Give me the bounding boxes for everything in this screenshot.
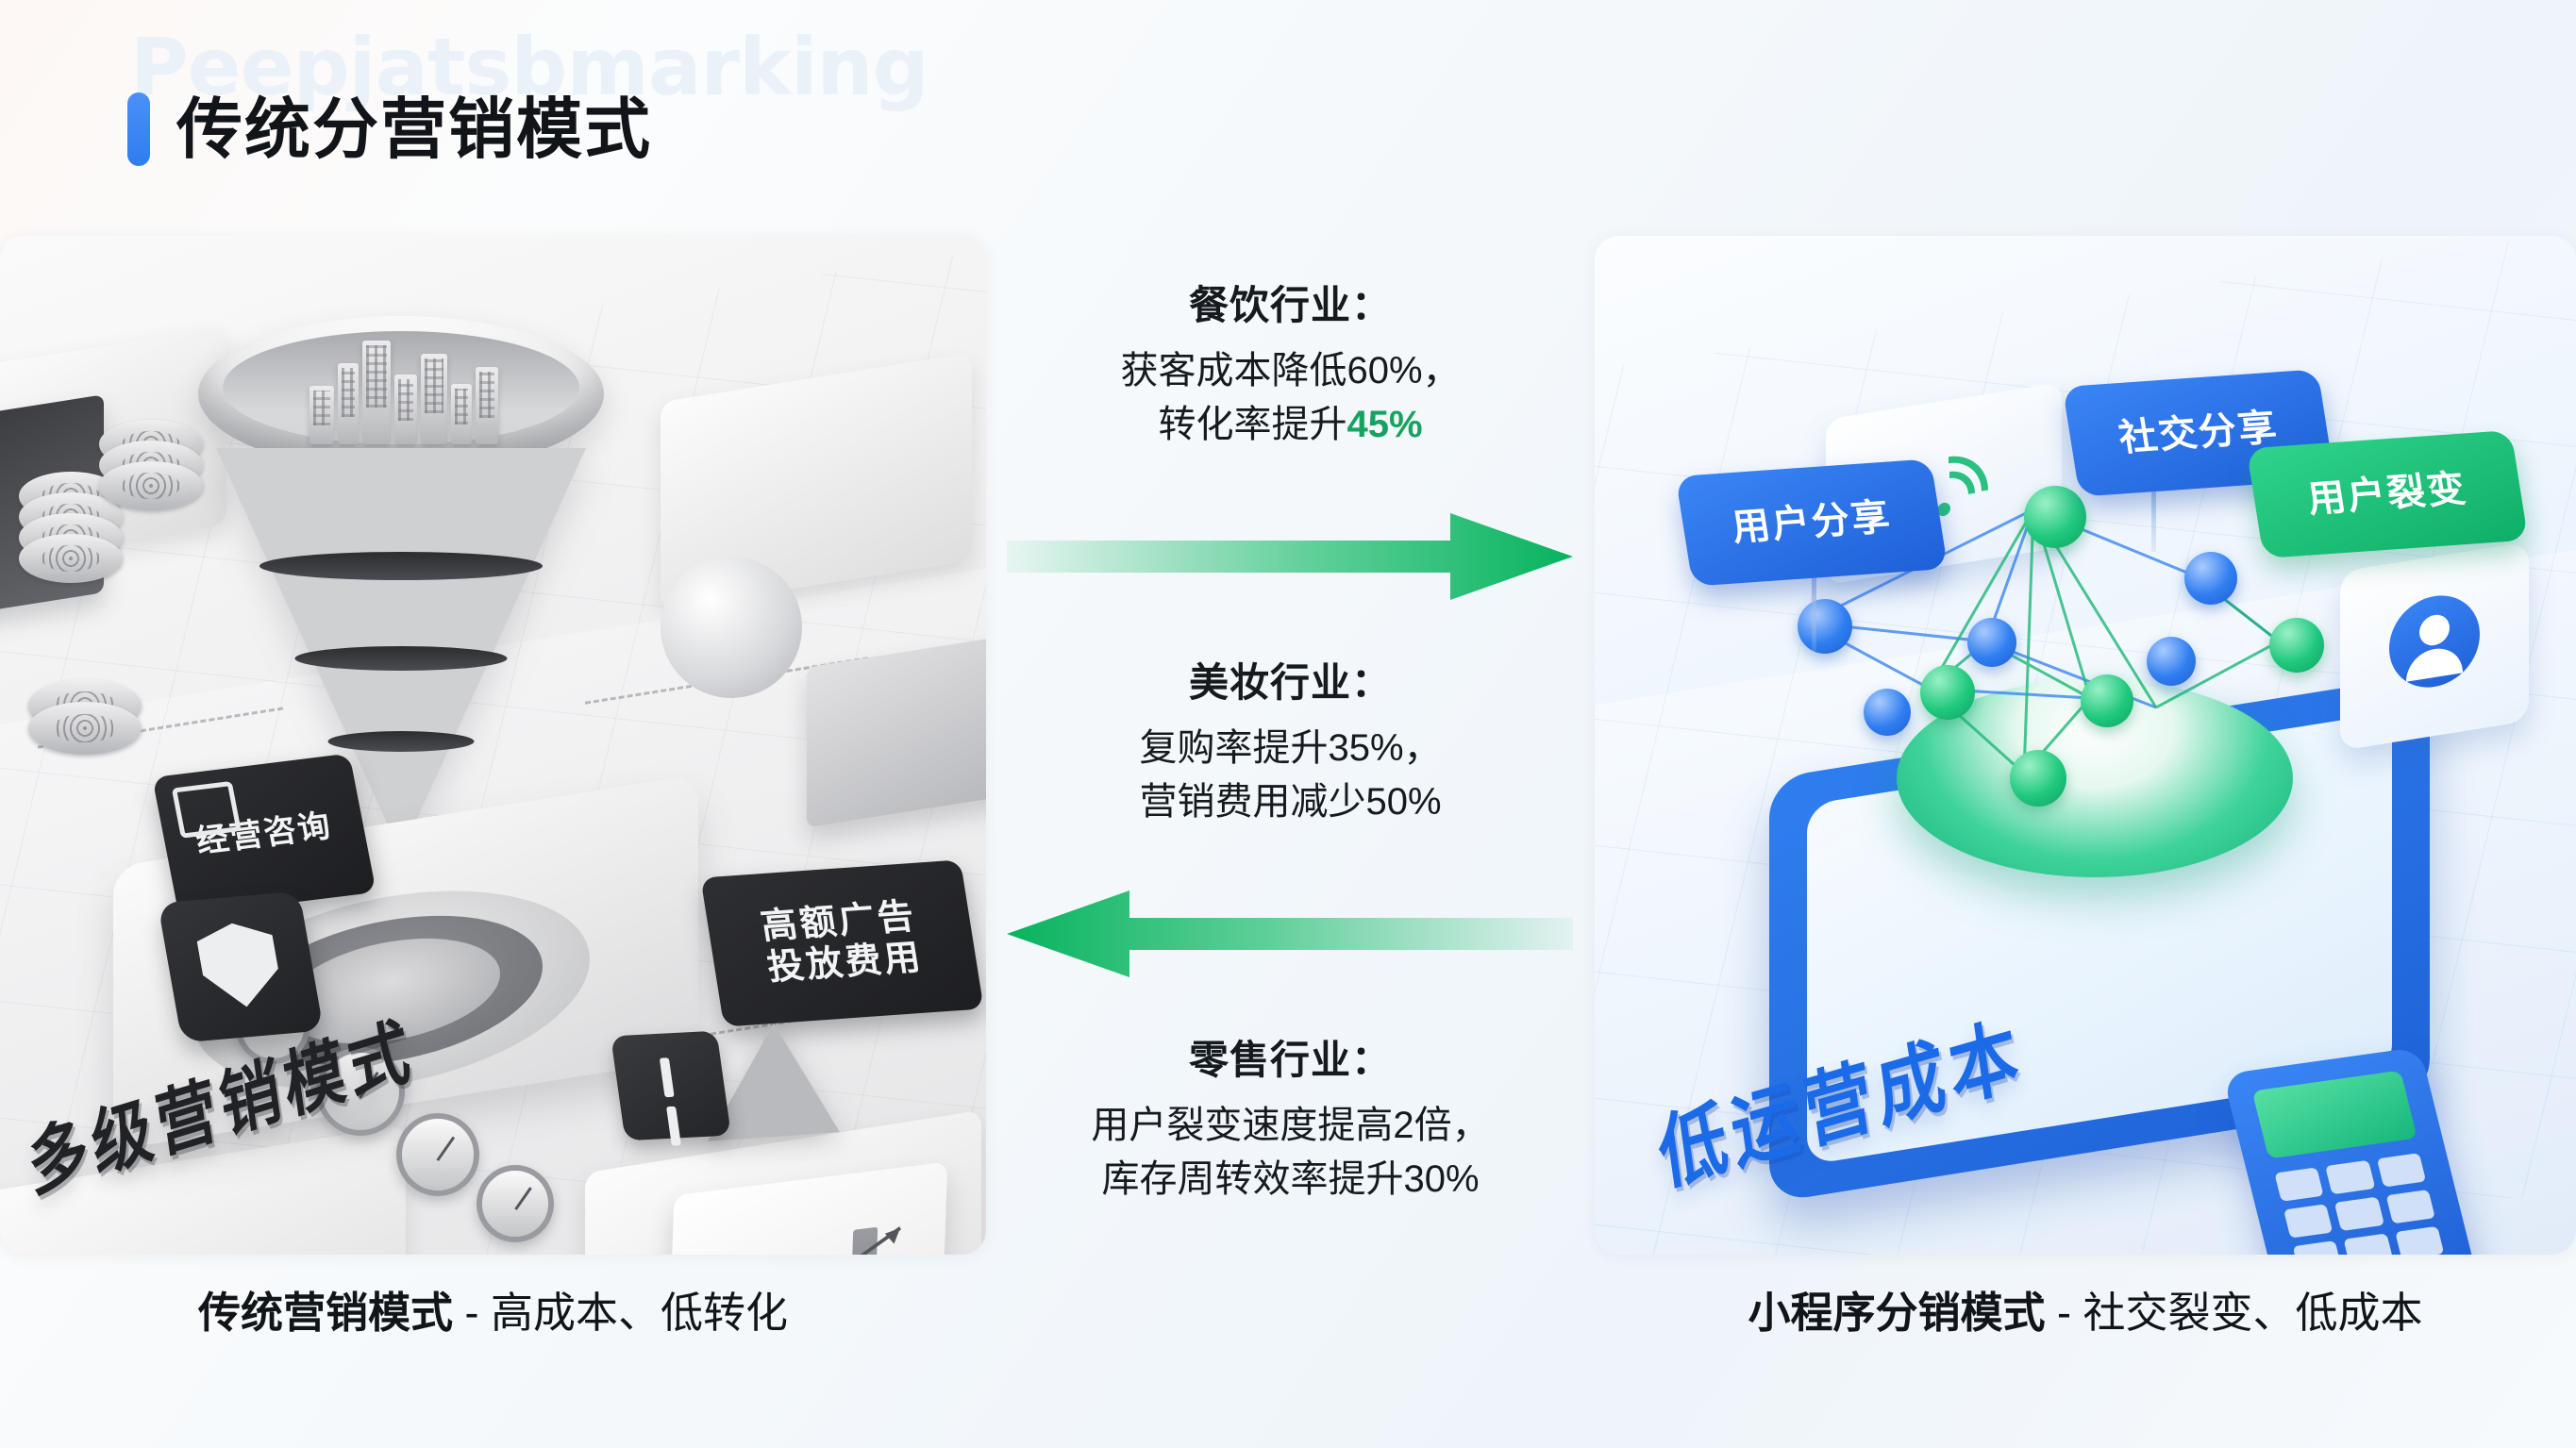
funnel-ring [259, 552, 543, 580]
left-caption-rest: - 高成本、低转化 [453, 1289, 788, 1337]
user-icon [2389, 589, 2480, 693]
consulting-sign: 经营咨询 [152, 754, 376, 917]
sphere-decoration [661, 557, 802, 698]
trend-line-icon [694, 1217, 916, 1255]
stat-block-catering: 餐饮行业： 获客成本降低60%， 转化率提升45% [986, 274, 1595, 452]
traditional-scene: 经营咨询 高额广告投放费用 多级营销模式 [0, 236, 986, 1255]
user-card [2340, 541, 2529, 751]
right-caption-rest: - 社交裂变、低成本 [2046, 1289, 2423, 1337]
network-node [2269, 618, 2324, 673]
stat-industry-title: 餐饮行业： [986, 274, 1595, 331]
page-title-row: 传统分营销模式 [127, 92, 652, 166]
network-node [2081, 674, 2133, 727]
right-caption-strong: 小程序分销模式 [1748, 1289, 2045, 1337]
gauge-dial [477, 1165, 554, 1242]
right-caption: 小程序分销模式 - 社交裂变、低成本 [1595, 1278, 2576, 1340]
right-arrow-icon [1007, 509, 1573, 604]
stat-line-2-prefix: 转化率提升 [1158, 404, 1347, 445]
user-fission-label: 用户裂变 [2305, 470, 2469, 518]
stat-block-retail: 零售行业： 用户裂变速度提高2倍， 库存周转效率提升30% [986, 1028, 1595, 1207]
page-header: Peepjatsbmarking 传统分营销模式 [0, 0, 2576, 236]
pos-keypad [2274, 1153, 2453, 1255]
ad-cost-sign-label: 高额广告投放费用 [742, 896, 944, 990]
user-share-label: 用户分享 [1730, 498, 1894, 546]
tag-stem [1812, 575, 1816, 651]
stat-line-2: 库存周转效率提升30% [986, 1153, 1595, 1207]
funnel-ring [295, 646, 508, 671]
warning-badge-icon [611, 1031, 731, 1141]
page-title: 传统分营销模式 [176, 96, 652, 162]
distribution-scene: 用户分享 社交分享 用户裂变 低运营成本 [1595, 236, 2576, 1255]
left-arrow-icon [1007, 887, 1573, 981]
left-illustration-panel: 经营咨询 高额广告投放费用 多级营销模式 [0, 236, 986, 1255]
stat-highlight-value: 45% [1347, 404, 1422, 445]
gauge-dial [396, 1113, 479, 1196]
stat-line-1: 用户裂变速度提高2倍， [986, 1099, 1595, 1153]
stat-line-2: 转化率提升45% [986, 398, 1595, 452]
network-node [2147, 637, 2196, 686]
user-share-tag: 用户分享 [1676, 458, 1949, 586]
funnel-ring [328, 731, 475, 752]
network-node [2184, 552, 2237, 605]
left-caption-strong: 传统营销模式 [198, 1289, 453, 1337]
network-node [2010, 750, 2066, 807]
stat-block-beauty: 美妆行业： 复购率提升35%， 营销费用减少50% [986, 651, 1595, 829]
stat-line-1: 复购率提升35%， [986, 722, 1595, 775]
factory-block [807, 635, 986, 828]
shield-badge [158, 891, 324, 1043]
network-node [2024, 486, 2086, 548]
right-illustration-panel: 用户分享 社交分享 用户裂变 低运营成本 [1595, 236, 2576, 1255]
tag-stem [2151, 486, 2156, 552]
network-node [1798, 599, 1852, 654]
left-caption: 传统营销模式 - 高成本、低转化 [0, 1278, 986, 1340]
stat-industry-title: 零售行业： [986, 1028, 1595, 1086]
stat-line-1: 获客成本降低60%， [986, 344, 1595, 398]
center-stats-column: 餐饮行业： 获客成本降低60%， 转化率提升45% 美妆行业： 复购率提升35%… [986, 236, 1595, 1255]
title-accent-bar [127, 92, 150, 166]
network-node [1920, 665, 1975, 720]
network-node [1967, 618, 2016, 667]
user-fission-tag: 用户裂变 [2247, 430, 2529, 558]
pos-screen [2252, 1071, 2417, 1159]
network-node [1864, 689, 1911, 736]
stat-line-2: 营销费用减少50% [986, 775, 1595, 829]
stat-industry-title: 美妆行业： [986, 651, 1595, 708]
ad-cost-sign: 高额广告投放费用 [700, 859, 983, 1026]
document-icon [172, 781, 242, 839]
city-buildings [304, 322, 502, 444]
